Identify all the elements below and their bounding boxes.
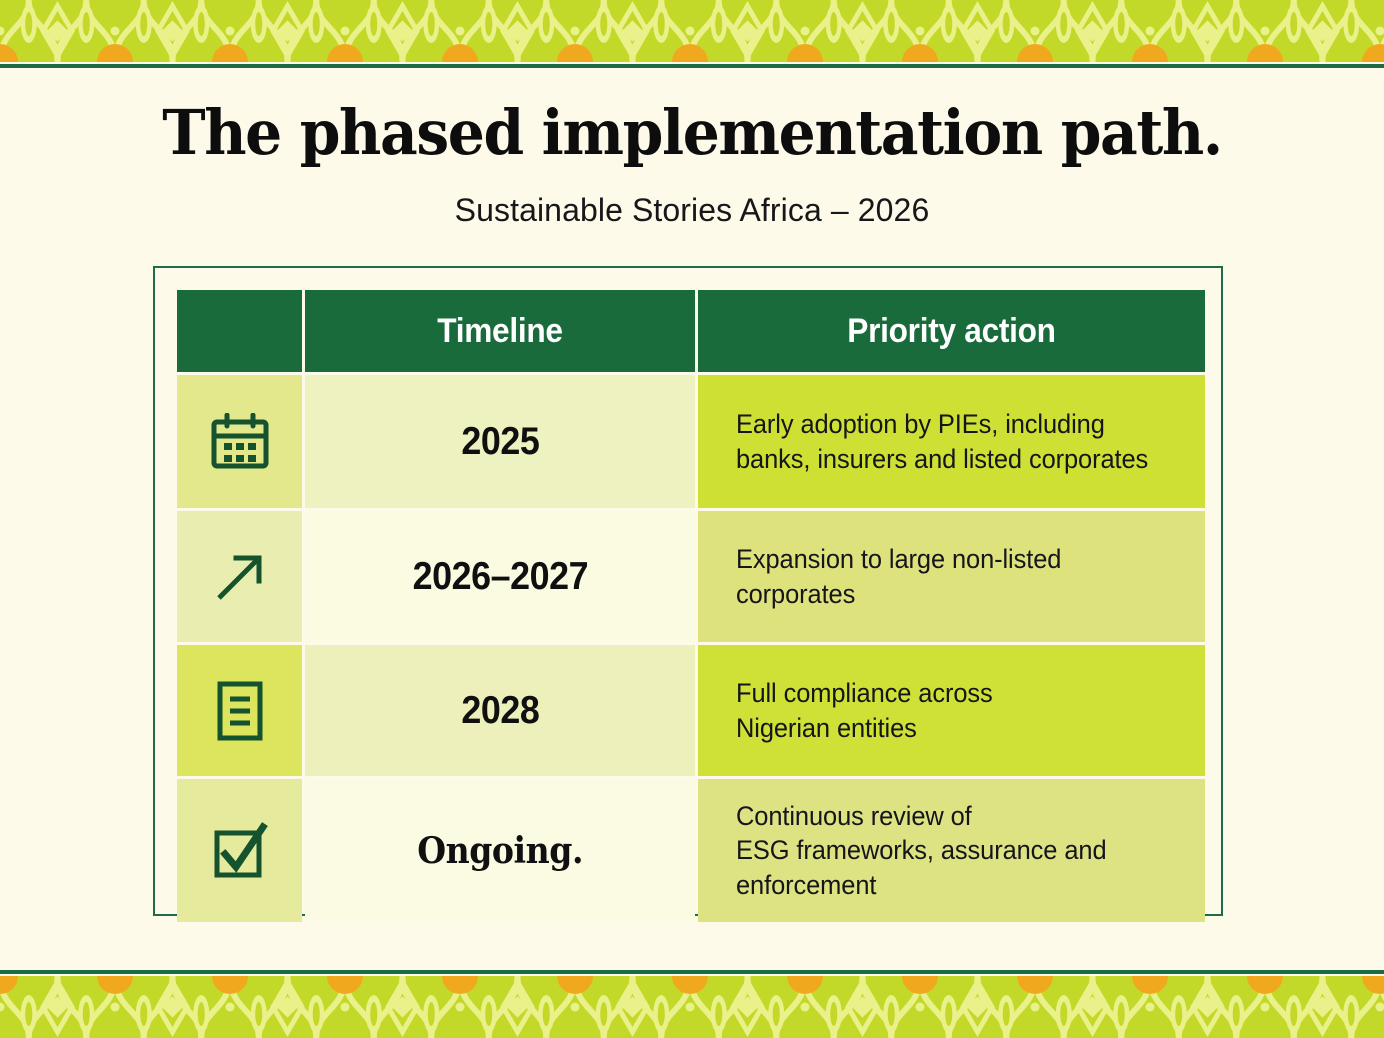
timeline-value: 2028 — [461, 689, 539, 733]
header-cell-priority-action: Priority action — [698, 290, 1205, 372]
arrow-up-right-icon — [211, 548, 269, 606]
table-frame: Timeline Priority action — [153, 266, 1223, 916]
header-cell-timeline: Timeline — [305, 290, 695, 372]
timeline-value: 2026–2027 — [412, 555, 587, 599]
document-lines-icon — [214, 680, 266, 742]
priority-action-value: Continuous review of ESG frameworks, ass… — [736, 799, 1107, 902]
bottom-decorative-border — [0, 952, 1384, 1038]
page-title: The phased implementation path. — [42, 100, 1343, 165]
timeline-value: Ongoing. — [417, 830, 583, 872]
header-label-priority-action: Priority action — [716, 290, 1188, 372]
table-header-row: Timeline Priority action — [177, 290, 1205, 372]
priority-action-value: Early adoption by PIEs, including banks,… — [736, 407, 1148, 476]
row-icon-cell — [177, 779, 302, 922]
row-timeline-cell: 2026–2027 — [305, 511, 695, 642]
row-icon-cell — [177, 645, 302, 776]
calendar-icon — [210, 413, 270, 471]
table-row: 2026–2027 Expansion to large non-listed … — [177, 511, 1205, 642]
top-border-rule — [0, 62, 1384, 70]
implementation-table: Timeline Priority action — [177, 290, 1205, 922]
checkbox-checked-icon — [210, 821, 270, 881]
table-row: 2025 Early adoption by PIEs, including b… — [177, 375, 1205, 508]
table-row: 2028 Full compliance across Nigerian ent… — [177, 645, 1205, 776]
row-timeline-cell: Ongoing. — [305, 779, 695, 922]
row-priority-cell: Continuous review of ESG frameworks, ass… — [698, 779, 1205, 922]
row-icon-cell — [177, 375, 302, 508]
row-priority-cell: Full compliance across Nigerian entities — [698, 645, 1205, 776]
header-cell-icon — [177, 290, 302, 372]
header-label-timeline: Timeline — [319, 290, 682, 372]
top-border-pattern-motif — [0, 0, 1384, 62]
row-timeline-cell: 2028 — [305, 645, 695, 776]
bottom-border-pattern-motif — [0, 976, 1384, 1038]
timeline-value: 2025 — [461, 420, 539, 464]
row-icon-cell — [177, 511, 302, 642]
row-priority-cell: Expansion to large non-listed corporates — [698, 511, 1205, 642]
page-subtitle: Sustainable Stories Africa – 2026 — [0, 192, 1384, 229]
header-label-icon — [181, 290, 297, 372]
priority-action-value: Full compliance across Nigerian entities — [736, 676, 993, 745]
row-priority-cell: Early adoption by PIEs, including banks,… — [698, 375, 1205, 508]
priority-action-value: Expansion to large non-listed corporates — [736, 542, 1061, 611]
top-decorative-border — [0, 0, 1384, 70]
bottom-border-rule — [0, 968, 1384, 976]
row-timeline-cell: 2025 — [305, 375, 695, 508]
table-row: Ongoing. Continuous review of ESG framew… — [177, 779, 1205, 922]
